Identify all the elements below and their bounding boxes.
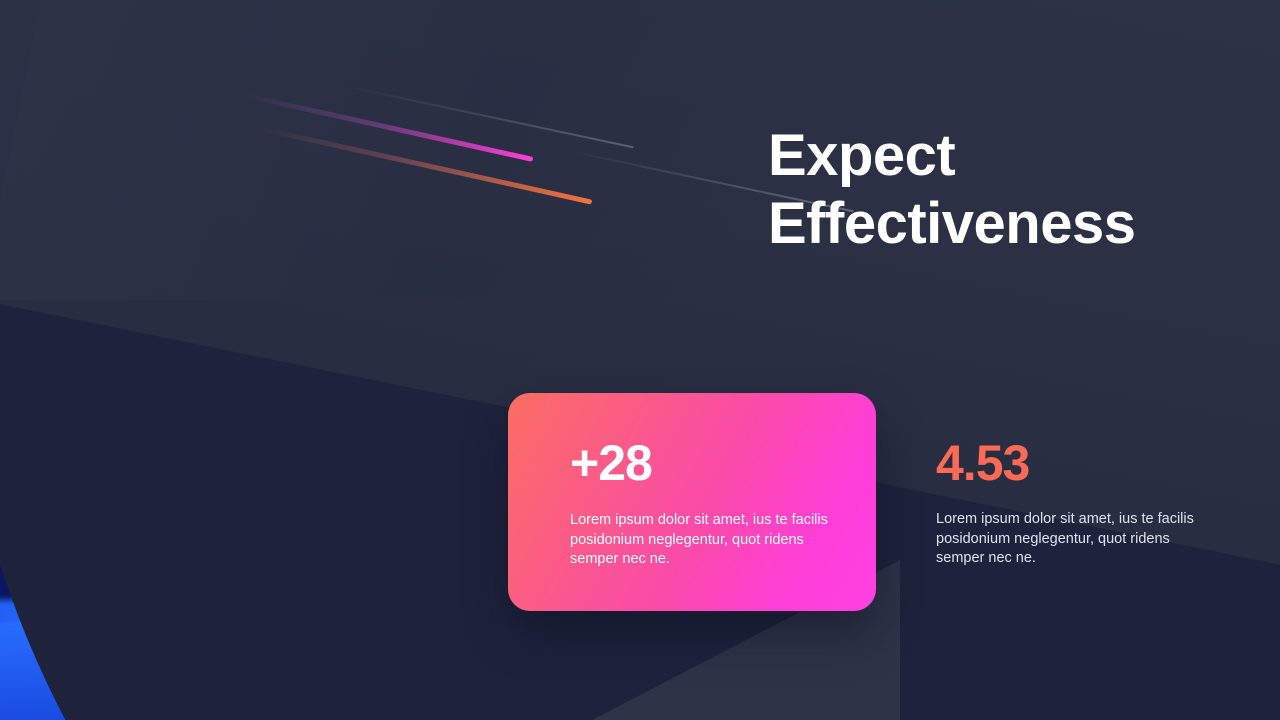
hud-caption-left: Personal Data User (258, 504, 354, 513)
hud-bar-3 (212, 511, 322, 526)
stat-plain-description: Lorem ipsum dolor sit amet, ius te facil… (936, 510, 1210, 569)
hud-chip-75: 75 (460, 586, 496, 620)
hud-donut-chart-2 (412, 396, 470, 454)
hud-chip-56: 56 (478, 552, 512, 580)
hud-bar-7 (380, 493, 436, 504)
stat-card-primary[interactable]: +28 Lorem ipsum dolor sit amet, ius te f… (508, 393, 876, 611)
hud-binary-left: 10100101001010010 (312, 484, 392, 492)
hud-badge-079: 079 (378, 504, 409, 519)
hud-bar-5 (282, 523, 356, 535)
hud-tag-j001: [J001] (252, 476, 305, 491)
stat-plain-value: 4.53 (936, 436, 1210, 490)
page-title-line-1: Expect (768, 122, 1238, 190)
hud-donut-chart-1 (340, 396, 398, 454)
hud-tag-j002: [J002] (416, 480, 465, 494)
hud-bar-6 (212, 540, 308, 554)
slide-canvas: 045 513 0082 4562 372 130 4801 488 J192 … (0, 0, 1280, 720)
hud-bar-9 (380, 526, 428, 536)
hud-bar-4 (212, 528, 280, 540)
stat-plain-secondary: 4.53 Lorem ipsum dolor sit amet, ius te … (936, 436, 1210, 569)
hud-chip-81: 81 (440, 554, 474, 582)
stat-card-description: Lorem ipsum dolor sit amet, ius te facil… (570, 511, 836, 570)
page-title: Expect Effectiveness (768, 122, 1238, 258)
page-title-line-2: Effectiveness (768, 190, 1238, 258)
hud-chip-97: 97 (418, 588, 454, 622)
stat-card-value: +28 (570, 437, 876, 489)
